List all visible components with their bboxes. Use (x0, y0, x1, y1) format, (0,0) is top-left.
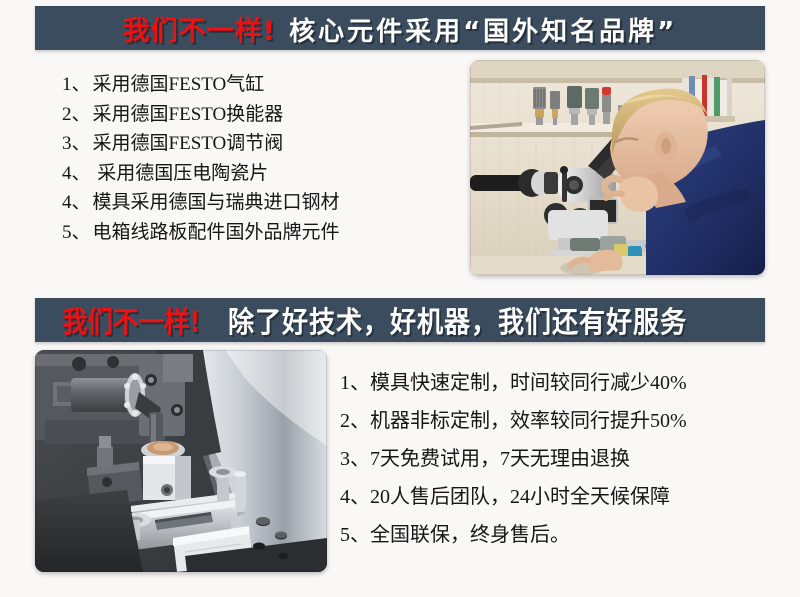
list-item-label: 采用德国FESTO调节阀 (93, 133, 284, 154)
section2-banner-inner: 我们不一样! 除了好技术，好机器，我们还有好服务 (62, 299, 739, 341)
list-item-number: 4、 (62, 192, 91, 213)
section1-banner-inner: 我们不一样! 核心元件采用“国外知名品牌” (123, 9, 678, 48)
list-item-number: 2、 (62, 104, 91, 125)
section2-banner-text: 除了好技术，好机器，我们还有好服务 (228, 299, 687, 341)
list-item-label: 模具快速定制，时间较同行减少40% (370, 372, 687, 394)
list-item: 4、 采用德国压电陶瓷片 (62, 159, 462, 189)
list-item-number: 1、 (62, 74, 91, 95)
technician-microscope-photo (470, 60, 765, 275)
machine-fixture-illustration (35, 350, 327, 572)
list-item: 3、7天免费试用，7天无理由退换 (340, 440, 790, 478)
list-item-number: 4、 (340, 486, 370, 508)
section1-banner-highlight: 我们不一样! (123, 9, 276, 48)
list-item-label: 模具采用德国与瑞典进口钢材 (93, 192, 340, 213)
list-item-number: 5、 (62, 222, 91, 243)
product-detail-page: 我们不一样! 核心元件采用“国外知名品牌” 1、采用德国FESTO气缸 2、采用… (0, 0, 800, 597)
list-item-number: 2、 (340, 410, 370, 432)
list-item-label: 采用德国FESTO换能器 (93, 104, 284, 125)
list-item-number: 1、 (340, 372, 370, 394)
list-item-number: 5、 (340, 524, 370, 546)
list-item: 2、采用德国FESTO换能器 (62, 100, 462, 130)
list-item-label: 电箱线路板配件国外品牌元件 (93, 222, 340, 243)
list-item: 1、模具快速定制，时间较同行减少40% (340, 364, 790, 402)
list-item-label: 20人售后团队，24小时全天候保障 (370, 486, 670, 508)
list-item-label: 7天免费试用，7天无理由退换 (370, 448, 630, 470)
list-item: 3、采用德国FESTO调节阀 (62, 129, 462, 159)
section2-service-list: 1、模具快速定制，时间较同行减少40% 2、机器非标定制，效率较同行提升50% … (340, 364, 790, 554)
section1-banner: 我们不一样! 核心元件采用“国外知名品牌” (35, 6, 765, 50)
list-item-label: 机器非标定制，效率较同行提升50% (370, 410, 687, 432)
technician-microscope-illustration (470, 60, 765, 275)
list-item: 5、电箱线路板配件国外品牌元件 (62, 218, 462, 248)
machine-fixture-closeup-photo (35, 350, 327, 572)
list-item-number: 3、 (340, 448, 370, 470)
list-item: 2、机器非标定制，效率较同行提升50% (340, 402, 790, 440)
list-item: 5、全国联保，终身售后。 (340, 516, 790, 554)
section2-banner: 我们不一样! 除了好技术，好机器，我们还有好服务 (35, 298, 765, 342)
section1-feature-list: 1、采用德国FESTO气缸 2、采用德国FESTO换能器 3、采用德国FESTO… (62, 70, 462, 247)
list-item: 4、20人售后团队，24小时全天候保障 (340, 478, 790, 516)
list-item-label: 采用德国压电陶瓷片 (93, 163, 269, 184)
list-item-label: 采用德国FESTO气缸 (93, 74, 265, 95)
section1-banner-text: 核心元件采用“国外知名品牌” (289, 11, 677, 48)
list-item-number: 4、 (62, 163, 91, 184)
list-item: 4、模具采用德国与瑞典进口钢材 (62, 188, 462, 218)
list-item-number: 3、 (62, 133, 91, 154)
section2-banner-highlight: 我们不一样! (62, 299, 200, 341)
list-item-label: 全国联保，终身售后。 (370, 524, 570, 546)
list-item: 1、采用德国FESTO气缸 (62, 70, 462, 100)
